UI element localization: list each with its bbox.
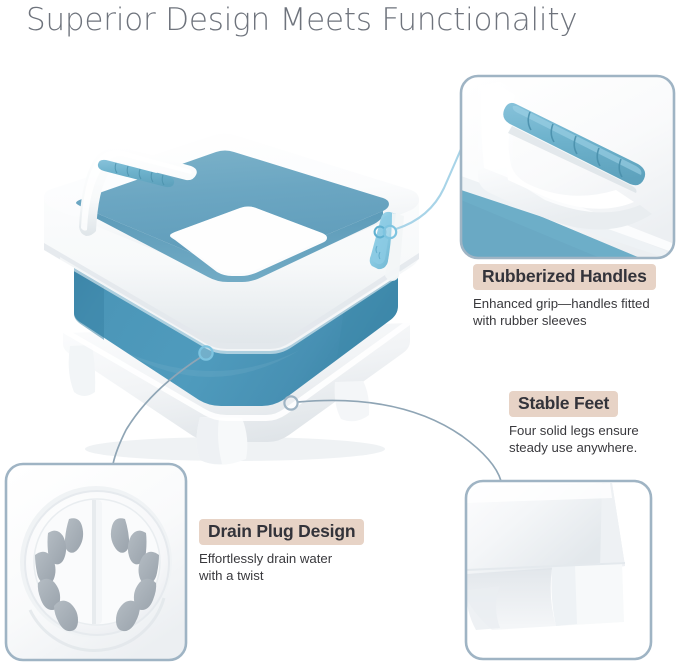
callout-desc-handles: Enhanced grip—handles fitted with rubber…: [473, 296, 656, 329]
callout-badge-handles: Rubberized Handles: [473, 264, 656, 290]
callout-desc-feet: Four solid legs ensure steady use anywhe…: [509, 423, 639, 456]
inset-foot-close-up: [466, 481, 651, 659]
callout-rubberized-handles: Rubberized Handles Enhanced grip—handles…: [473, 264, 656, 329]
callout-desc-drain: Effortlessly drain water with a twist: [199, 551, 364, 584]
inset-drain-plug-close-up: [6, 464, 186, 660]
callout-badge-feet: Stable Feet: [509, 391, 618, 417]
product-main-image: [44, 134, 419, 465]
callout-stable-feet: Stable Feet Four solid legs ensure stead…: [509, 391, 639, 456]
infographic-canvas: Superior Design Meets Functionality: [0, 0, 679, 667]
callout-drain-plug-design: Drain Plug Design Effortlessly drain wat…: [199, 519, 364, 584]
marker-feet[interactable]: [284, 396, 297, 409]
marker-handles[interactable]: [384, 226, 396, 238]
marker-drain[interactable]: [199, 346, 212, 359]
inset-handle-close-up: [461, 76, 674, 258]
callout-badge-drain: Drain Plug Design: [199, 519, 364, 545]
